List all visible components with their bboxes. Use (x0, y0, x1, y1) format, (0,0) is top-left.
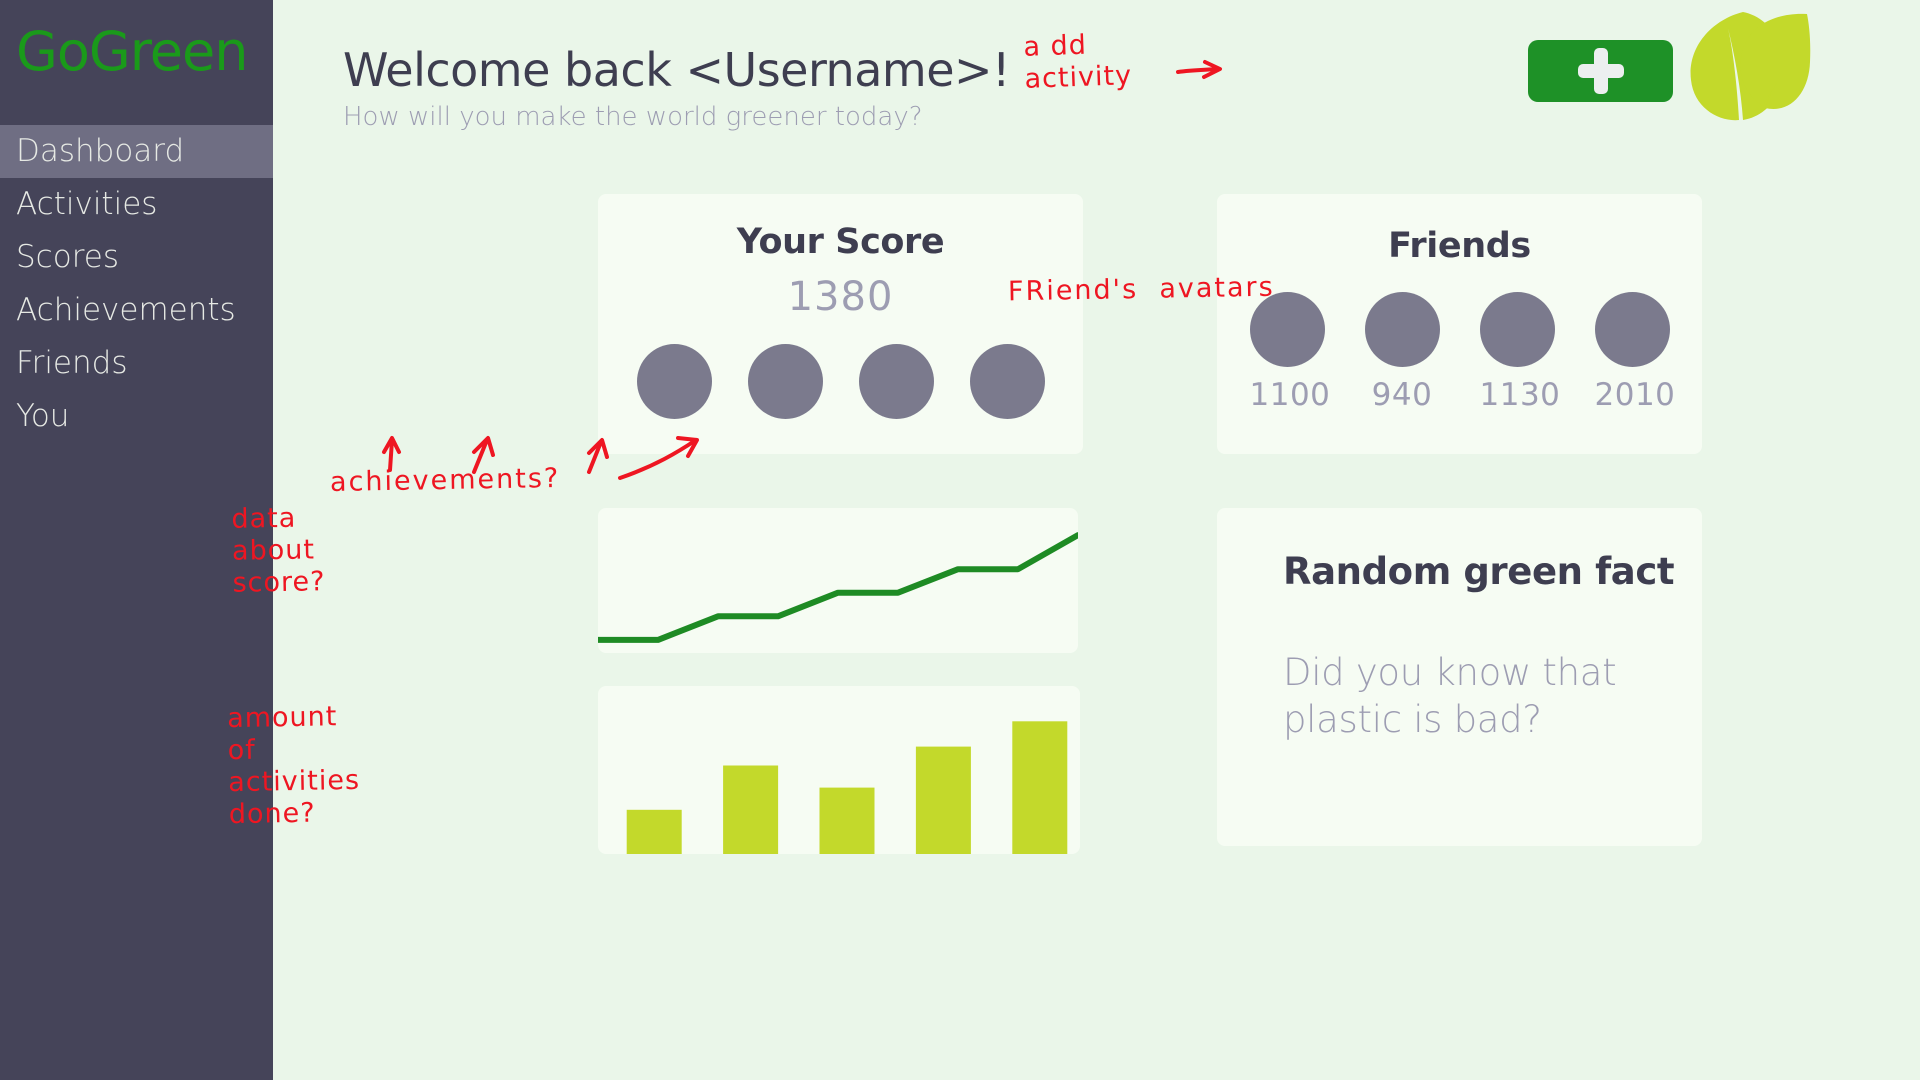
green-fact-title: Random green fact (1217, 508, 1702, 593)
sidebar-item-dashboard[interactable]: Dashboard (0, 125, 273, 178)
bar (627, 810, 682, 854)
achievement-badge[interactable] (748, 344, 823, 419)
bar (820, 788, 875, 854)
sidebar-item-label: Friends (16, 345, 127, 381)
friend-score: 1130 (1480, 377, 1555, 413)
sidebar: GoGreen Dashboard Activities Scores Achi… (0, 0, 273, 1080)
add-activity-button[interactable] (1528, 40, 1673, 102)
app-root: GoGreen Dashboard Activities Scores Achi… (0, 0, 1920, 1080)
sidebar-item-label: Dashboard (16, 133, 184, 169)
sidebar-item-activities[interactable]: Activities (0, 178, 273, 231)
green-fact-text: Did you know that plastic is bad? (1217, 593, 1702, 744)
score-card-title: Your Score (598, 194, 1083, 262)
activities-bar-chart (598, 686, 1080, 854)
sidebar-item-label: You (16, 398, 69, 434)
leaf-icon (1681, 6, 1811, 128)
avatar[interactable] (1480, 292, 1555, 367)
friend-score: 940 (1365, 377, 1440, 413)
avatar[interactable] (1250, 292, 1325, 367)
activities-bar-chart-card (598, 686, 1080, 854)
list-item[interactable]: 1130 (1480, 292, 1555, 413)
sidebar-item-you[interactable]: You (0, 390, 273, 443)
score-line-chart (598, 508, 1078, 653)
green-fact-card: Random green fact Did you know that plas… (1217, 508, 1702, 846)
friends-card: Friends 1100 940 1130 2010 (1217, 194, 1702, 454)
score-value: 1380 (598, 274, 1083, 320)
achievement-badge[interactable] (859, 344, 934, 419)
sidebar-item-achievements[interactable]: Achievements (0, 284, 273, 337)
plus-icon (1578, 48, 1624, 94)
page-header: Welcome back <Username>! How will you ma… (343, 46, 1010, 132)
achievement-badge[interactable] (970, 344, 1045, 419)
friend-score: 1100 (1250, 377, 1325, 413)
sidebar-item-scores[interactable]: Scores (0, 231, 273, 284)
achievement-badge[interactable] (637, 344, 712, 419)
sidebar-item-label: Achievements (16, 292, 236, 328)
friends-list: 1100 940 1130 2010 (1217, 292, 1702, 413)
list-item[interactable]: 1100 (1250, 292, 1325, 413)
achievement-list (598, 344, 1083, 419)
page-title: Welcome back <Username>! (343, 46, 1010, 94)
score-card: Your Score 1380 (598, 194, 1083, 454)
bar (1012, 721, 1067, 854)
sidebar-nav: Dashboard Activities Scores Achievements… (0, 125, 273, 442)
friend-score: 2010 (1595, 377, 1670, 413)
bar (916, 747, 971, 854)
bar (723, 766, 778, 855)
brand-logo-text[interactable]: GoGreen (0, 0, 273, 83)
list-item[interactable]: 940 (1365, 292, 1440, 413)
sidebar-item-label: Activities (16, 186, 157, 222)
line-series (598, 535, 1078, 640)
list-item[interactable]: 2010 (1595, 292, 1670, 413)
sidebar-item-friends[interactable]: Friends (0, 337, 273, 390)
sidebar-item-label: Scores (16, 239, 119, 275)
main-content: Welcome back <Username>! How will you ma… (273, 0, 1920, 1080)
score-line-chart-card (598, 508, 1078, 653)
page-subtitle: How will you make the world greener toda… (343, 102, 1010, 132)
friends-card-title: Friends (1217, 194, 1702, 266)
avatar[interactable] (1365, 292, 1440, 367)
avatar[interactable] (1595, 292, 1670, 367)
